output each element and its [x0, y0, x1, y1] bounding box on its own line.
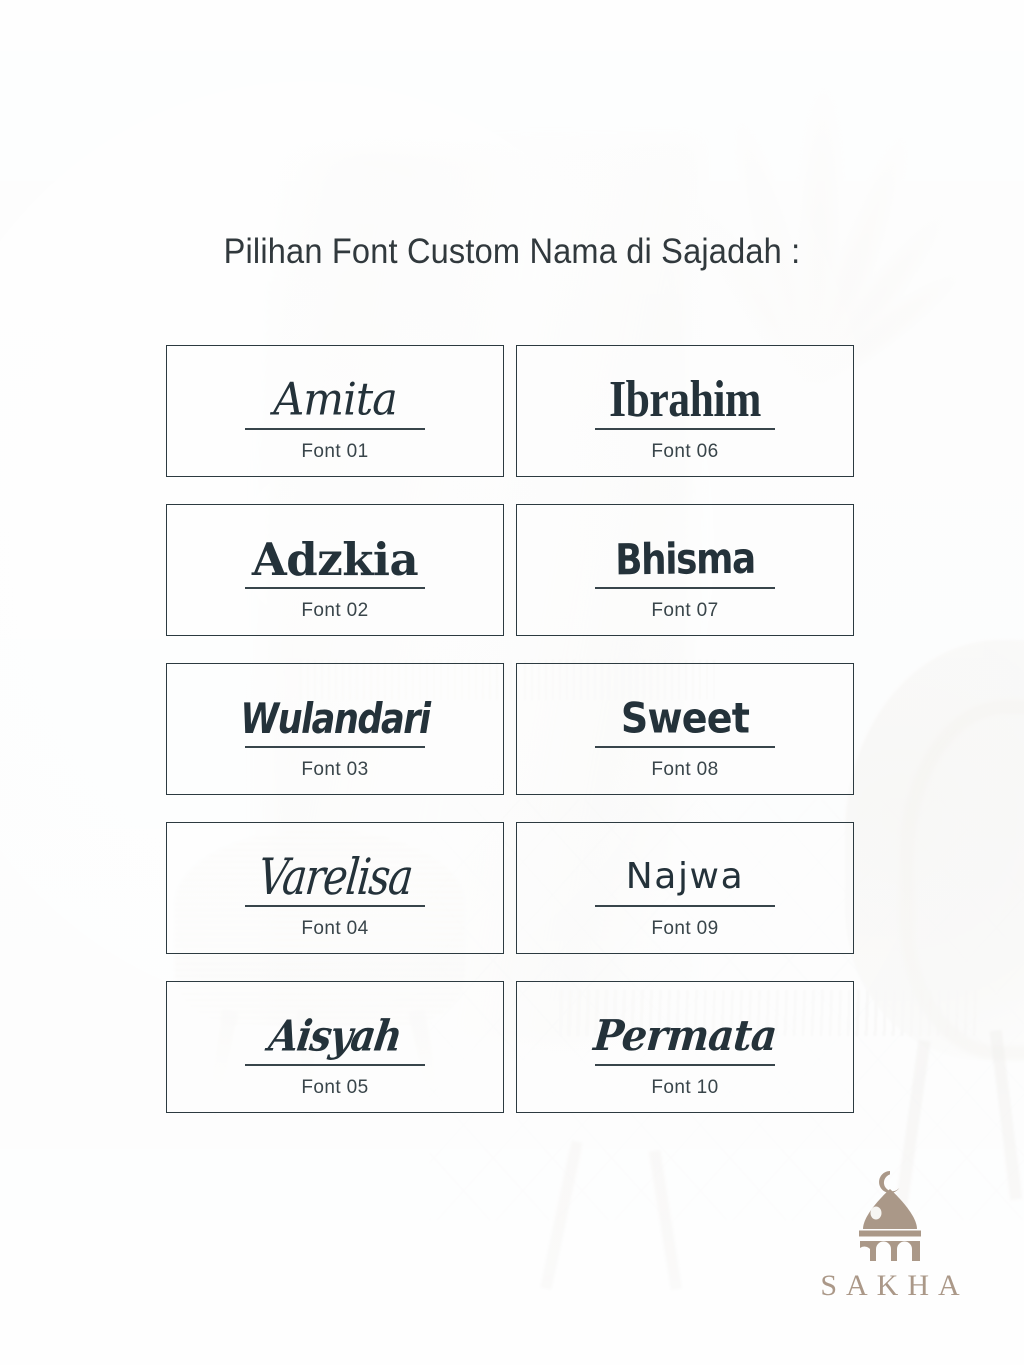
sample-divider — [595, 905, 775, 907]
font-option-label: Font 07 — [651, 600, 718, 622]
font-option-label: Font 03 — [301, 759, 368, 781]
font-sample-name: Adzkia — [167, 533, 503, 585]
font-sample-name: Wulandari — [175, 688, 494, 747]
font-option-card[interactable]: Amita Font 01 — [166, 345, 504, 477]
font-option-card[interactable]: Adzkia Font 02 — [166, 504, 504, 636]
font-option-card[interactable]: Varelisa Font 04 — [166, 822, 504, 954]
font-option-card[interactable]: Bhisma Font 07 — [516, 504, 854, 636]
sample-divider — [595, 1064, 775, 1066]
font-option-label: Font 10 — [651, 1077, 718, 1099]
font-sample-name: Ibrahim — [544, 374, 826, 426]
brand-logo: SAKHA — [800, 1169, 980, 1303]
font-options-grid: Amita Font 01 Ibrahim Font 06 Adzkia Fon… — [166, 345, 854, 1113]
font-option-card[interactable]: Najwa Font 09 — [516, 822, 854, 954]
font-option-card[interactable]: Permata Font 10 — [516, 981, 854, 1113]
sample-divider — [245, 587, 425, 589]
font-option-label: Font 08 — [651, 759, 718, 781]
font-option-label: Font 06 — [651, 441, 718, 463]
font-option-card[interactable]: Wulandari Font 03 — [166, 663, 504, 795]
font-option-label: Font 09 — [651, 918, 718, 940]
font-sample-name: Bhisma — [527, 528, 843, 590]
font-option-card[interactable]: Sweet Font 08 — [516, 663, 854, 795]
sample-divider — [595, 428, 775, 430]
font-option-card[interactable]: Aisyah Font 05 — [166, 981, 504, 1113]
brand-wordmark: SAKHA — [811, 1269, 968, 1303]
font-option-label: Font 04 — [301, 918, 368, 940]
font-option-card[interactable]: Ibrahim Font 06 — [516, 345, 854, 477]
sample-divider — [245, 428, 425, 430]
font-sample-name: Najwa — [517, 851, 853, 903]
page-title: Pilihan Font Custom Nama di Sajadah : — [36, 232, 988, 272]
font-sample-name: Varelisa — [166, 845, 504, 908]
font-sample-name: Permata — [516, 1008, 854, 1063]
font-option-label: Font 01 — [301, 441, 368, 463]
font-sample-name: Sweet — [517, 689, 853, 746]
font-option-label: Font 02 — [301, 600, 368, 622]
page-root: Pilihan Font Custom Nama di Sajadah : Am… — [0, 0, 1024, 1365]
font-sample-name: Amita — [167, 373, 503, 427]
mosque-dome-crescent-icon — [838, 1169, 942, 1265]
font-sample-name: Aisyah — [166, 1007, 504, 1065]
font-option-label: Font 05 — [301, 1077, 368, 1099]
